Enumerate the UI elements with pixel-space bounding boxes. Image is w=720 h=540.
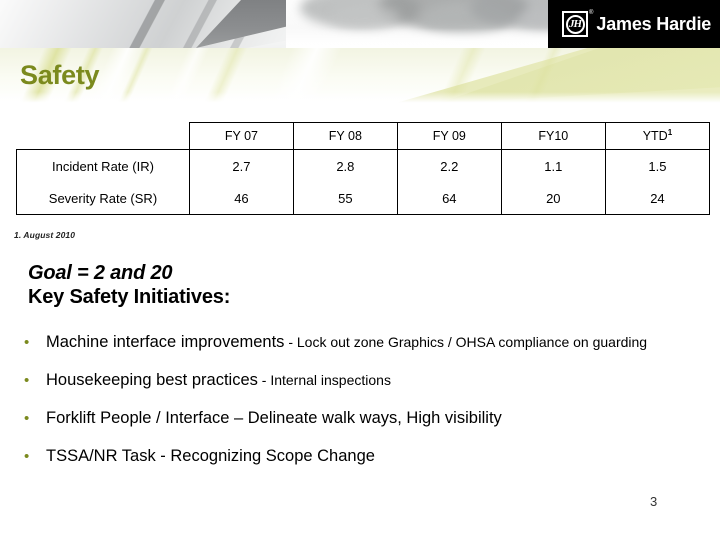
cell-sr-fy09: 64 [397,182,501,215]
column-header-fy09: FY 09 [397,123,501,150]
registered-trademark-icon: ® [589,10,593,16]
initiatives-heading: Key Safety Initiatives: [28,286,230,309]
column-header-fy10: FY10 [501,123,605,150]
slide-number: 3 [650,494,657,509]
bullet-icon: • [20,370,46,392]
list-item-sub: - Internal inspections [258,372,391,388]
cell-ir-fy08: 2.8 [293,150,397,183]
cell-sr-fy10: 20 [501,182,605,215]
goal-heading: Goal = 2 and 20 [28,262,172,285]
table-header-row: FY 07 FY 08 FY 09 FY10 YTD1 [17,123,710,150]
cell-ir-fy07: 2.7 [189,150,293,183]
list-item-main: Housekeeping best practices [46,371,258,389]
cloud-shape [330,4,400,30]
list-item-main: Forklift People / Interface – Delineate … [46,409,502,427]
list-item-text: Machine interface improvements - Lock ou… [46,332,710,353]
list-item: • Machine interface improvements - Lock … [20,332,710,354]
cell-ir-fy09: 2.2 [397,150,501,183]
table-row: Severity Rate (SR) 46 55 64 20 24 [17,182,710,215]
list-item: • Forklift People / Interface – Delineat… [20,408,710,430]
list-item-text: Housekeeping best practices - Internal i… [46,370,710,391]
footnote-marker: 1 [668,128,672,137]
cell-ir-ytd: 1.5 [605,150,709,183]
list-item: • Housekeeping best practices - Internal… [20,370,710,392]
list-item-main: Machine interface improvements [46,333,284,351]
row-label-incident-rate: Incident Rate (IR) [17,150,190,183]
column-header-fy08: FY 08 [293,123,397,150]
table-corner-cell [17,123,190,150]
olive-accent-band [0,48,720,104]
page-title: Safety [20,60,99,91]
james-hardie-logo: JH ® James Hardie [548,0,720,48]
cell-sr-ytd: 24 [605,182,709,215]
brand-name: James Hardie [596,14,711,35]
column-header-ytd-label: YTD [643,129,668,143]
bullet-icon: • [20,446,46,468]
band-bottom-fade [0,92,720,104]
header-banner: JH ® James Hardie [0,0,720,48]
bullet-icon: • [20,332,46,354]
table-footnote: 1. August 2010 [14,230,75,240]
jh-monogram-icon: JH [562,11,588,37]
column-header-ytd: YTD1 [605,123,709,150]
list-item-sub: - Lock out zone Graphics / OHSA complian… [284,334,647,350]
jh-monogram-ring: JH [566,15,585,34]
row-label-severity-rate: Severity Rate (SR) [17,182,190,215]
cell-sr-fy08: 55 [293,182,397,215]
list-item-text: Forklift People / Interface – Delineate … [46,408,710,429]
safety-metrics-table: FY 07 FY 08 FY 09 FY10 YTD1 Incident Rat… [16,122,710,215]
table-row: Incident Rate (IR) 2.7 2.8 2.2 1.1 1.5 [17,150,710,183]
cell-sr-fy07: 46 [189,182,293,215]
jh-monogram-letters: JH [569,19,581,30]
cell-ir-fy10: 1.1 [501,150,605,183]
bullet-icon: • [20,408,46,430]
list-item-main: TSSA/NR Task - Recognizing Scope Change [46,447,375,465]
initiatives-list: • Machine interface improvements - Lock … [20,332,710,484]
column-header-fy07: FY 07 [189,123,293,150]
list-item-text: TSSA/NR Task - Recognizing Scope Change [46,446,710,467]
list-item: • TSSA/NR Task - Recognizing Scope Chang… [20,446,710,468]
